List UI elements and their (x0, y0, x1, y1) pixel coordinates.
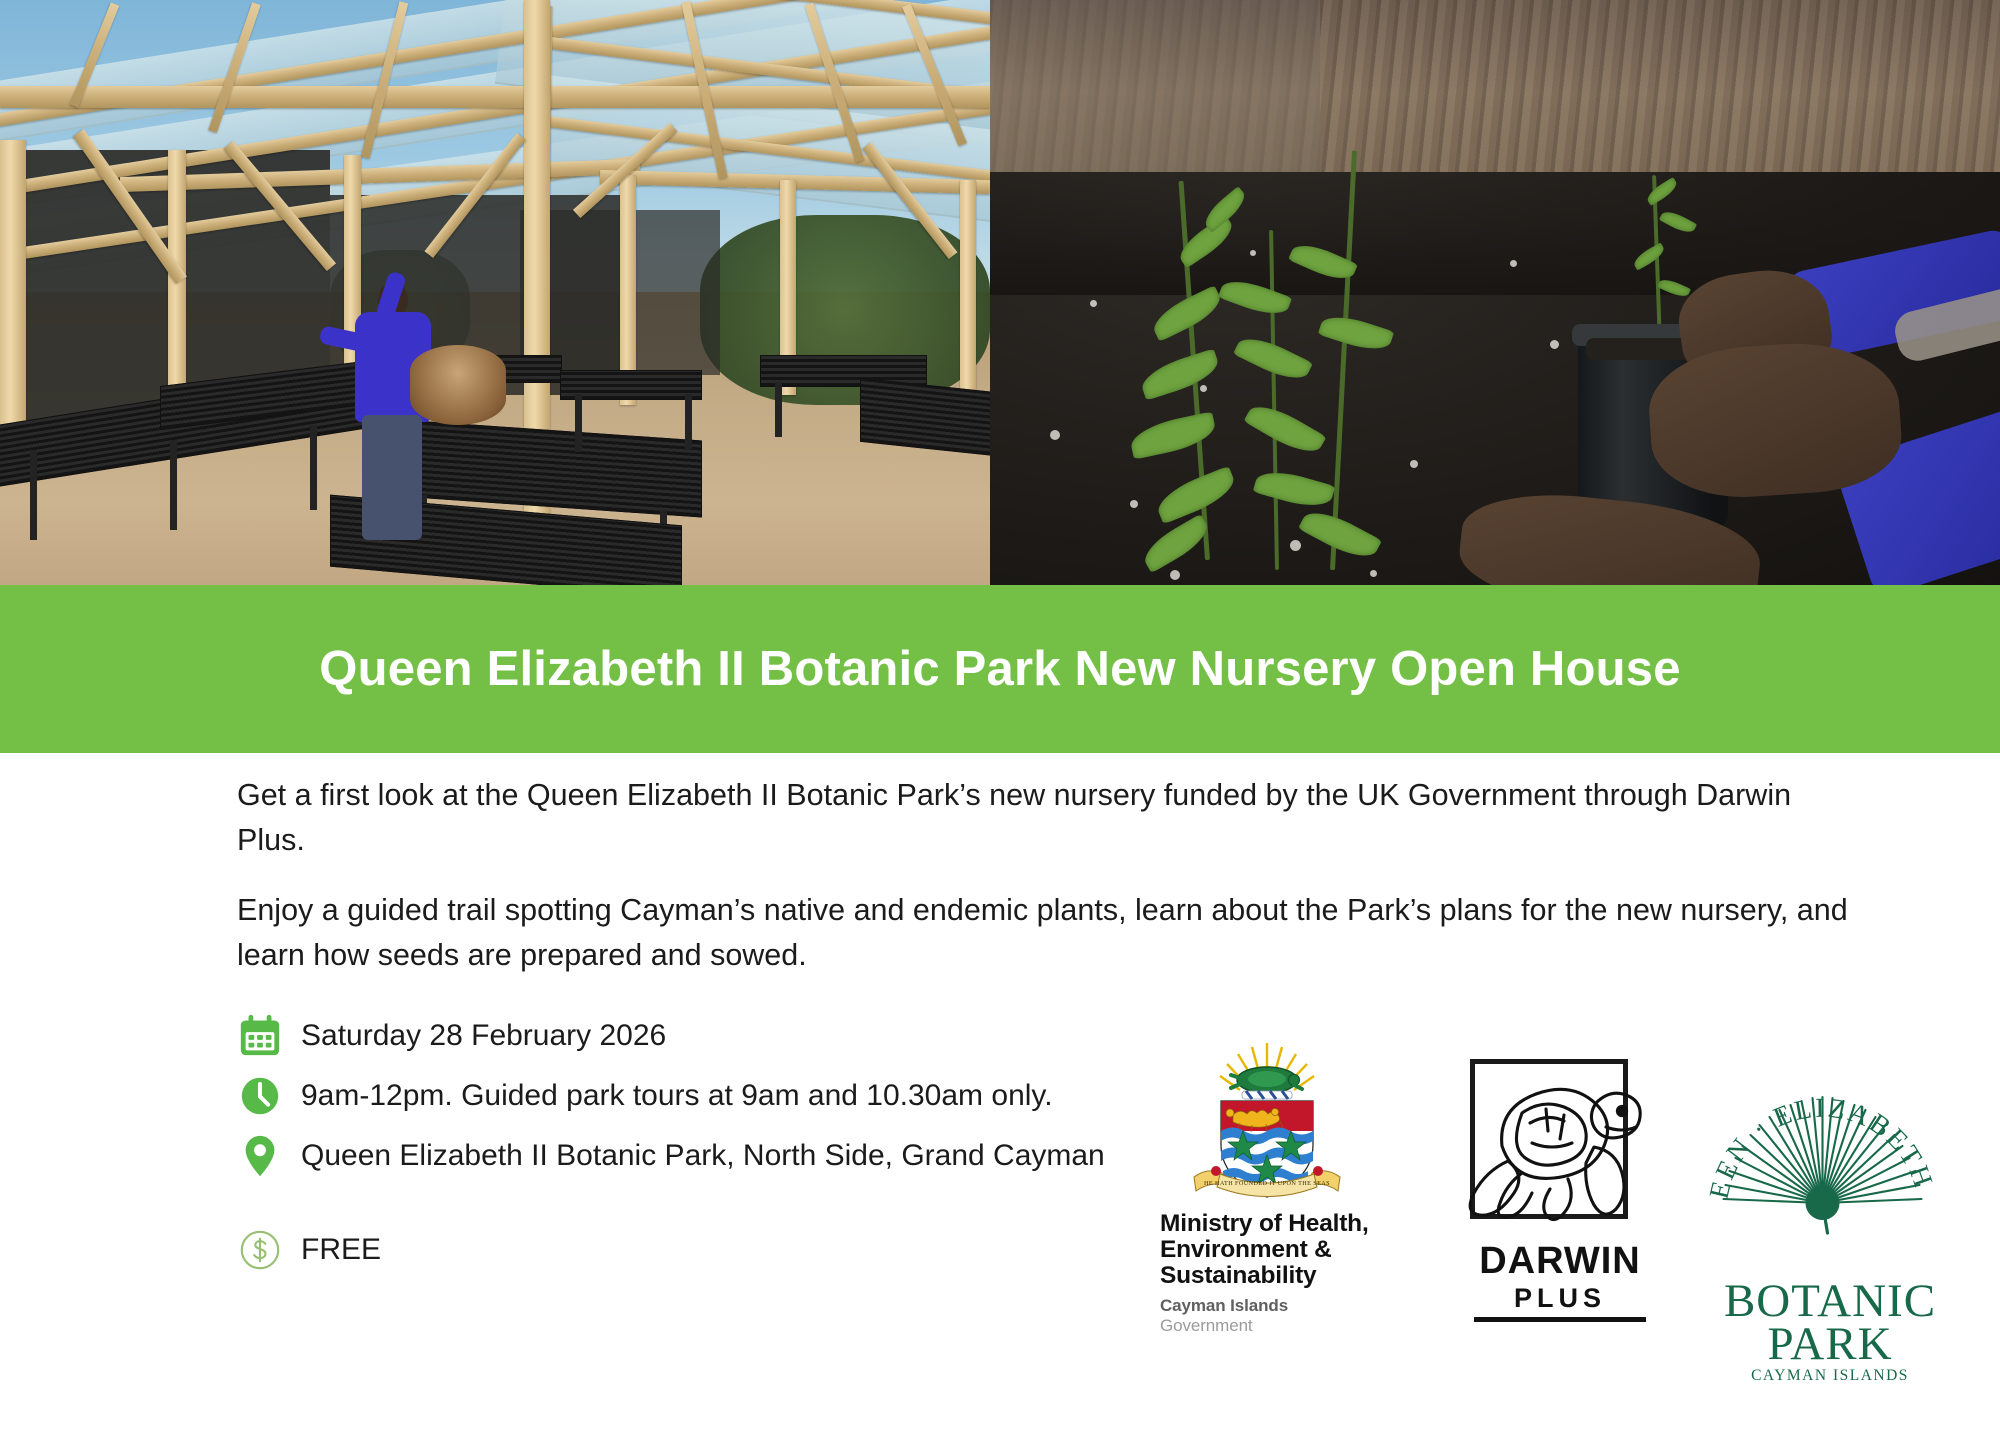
body-content: Get a first look at the Queen Elizabeth … (0, 753, 2000, 1429)
detail-row-date: Saturday 28 February 2026 (237, 1006, 1237, 1066)
support-post (0, 140, 26, 440)
nursery-structure-photo (0, 0, 990, 592)
detail-row-location: Queen Elizabeth II Botanic Park, North S… (237, 1126, 1237, 1186)
calendar-icon (237, 1013, 283, 1059)
tree-stump (410, 345, 506, 425)
ministry-line-3: Sustainability (1160, 1263, 1375, 1289)
detail-row-price: FREE (237, 1220, 1237, 1280)
darwin-plus-wordmark: PLUS (1460, 1283, 1660, 1314)
detail-price-text: FREE (301, 1233, 381, 1267)
ministry-line-1: Ministry of Health, (1160, 1211, 1375, 1237)
ministry-name: Ministry of Health, Environment & Sustai… (1160, 1211, 1375, 1289)
qe2-line-cayman: CAYMAN ISLANDS (1705, 1369, 1955, 1383)
detail-row-time: 9am-12pm. Guided park tours at 9am and 1… (237, 1066, 1237, 1126)
dollar-circle-icon (237, 1227, 283, 1273)
clock-icon (237, 1073, 283, 1119)
activities-paragraph: Enjoy a guided trail spotting Cayman’s n… (237, 888, 1857, 978)
intro-paragraph: Get a first look at the Queen Elizabeth … (237, 773, 1857, 863)
ministry-line-2: Environment & (1160, 1237, 1375, 1263)
ministry-sub-bold: Cayman Islands (1160, 1296, 1288, 1315)
darwin-plus-logo: DARWIN PLUS (1460, 1051, 1660, 1322)
event-poster: Queen Elizabeth II Botanic Park New Nurs… (0, 0, 2000, 1429)
potting-seedling-photo (990, 0, 2000, 592)
qe2-botanic-park-logo: QUEEN · ELIZABETH · II BOTANIC PARK CAYM… (1705, 1035, 1955, 1384)
cayman-islands-coat-of-arms: HE HATH FOUNDED IT UPON THE SEAS (1180, 1035, 1355, 1207)
photo-strip (0, 0, 2000, 592)
support-post (960, 180, 976, 395)
map-pin-icon (237, 1133, 283, 1179)
darwin-underline (1474, 1317, 1646, 1322)
darwin-turtle-icon (1460, 1051, 1645, 1246)
detail-location-text: Queen Elizabeth II Botanic Park, North S… (301, 1139, 1105, 1173)
page-title: Queen Elizabeth II Botanic Park New Nurs… (319, 641, 1680, 697)
detail-time-text: 9am-12pm. Guided park tours at 9am and 1… (301, 1079, 1053, 1113)
person-legs (362, 415, 422, 540)
svg-text:HE HATH FOUNDED IT UPON THE SE: HE HATH FOUNDED IT UPON THE SEAS (1204, 1180, 1330, 1187)
qe2-line-botanic: BOTANIC (1705, 1280, 1955, 1323)
ministry-sub-light: Government (1160, 1316, 1253, 1335)
darwin-wordmark: DARWIN (1460, 1240, 1660, 1283)
logo-row: HE HATH FOUNDED IT UPON THE SEAS Ministr… (1160, 1035, 1980, 1365)
qe2-line-park: PARK (1705, 1323, 1955, 1366)
palm-fan-icon: QUEEN · ELIZABETH · II (1705, 1035, 1940, 1280)
qe2-wordmark: BOTANIC PARK CAYMAN ISLANDS (1705, 1280, 1955, 1384)
ministry-logo: HE HATH FOUNDED IT UPON THE SEAS Ministr… (1160, 1035, 1375, 1336)
ministry-subtitle: Cayman Islands Government (1160, 1296, 1375, 1336)
detail-date-text: Saturday 28 February 2026 (301, 1019, 666, 1053)
title-banner: Queen Elizabeth II Botanic Park New Nurs… (0, 585, 2000, 753)
event-details-list: Saturday 28 February 2026 9am-12pm. Guid… (237, 1006, 1237, 1280)
